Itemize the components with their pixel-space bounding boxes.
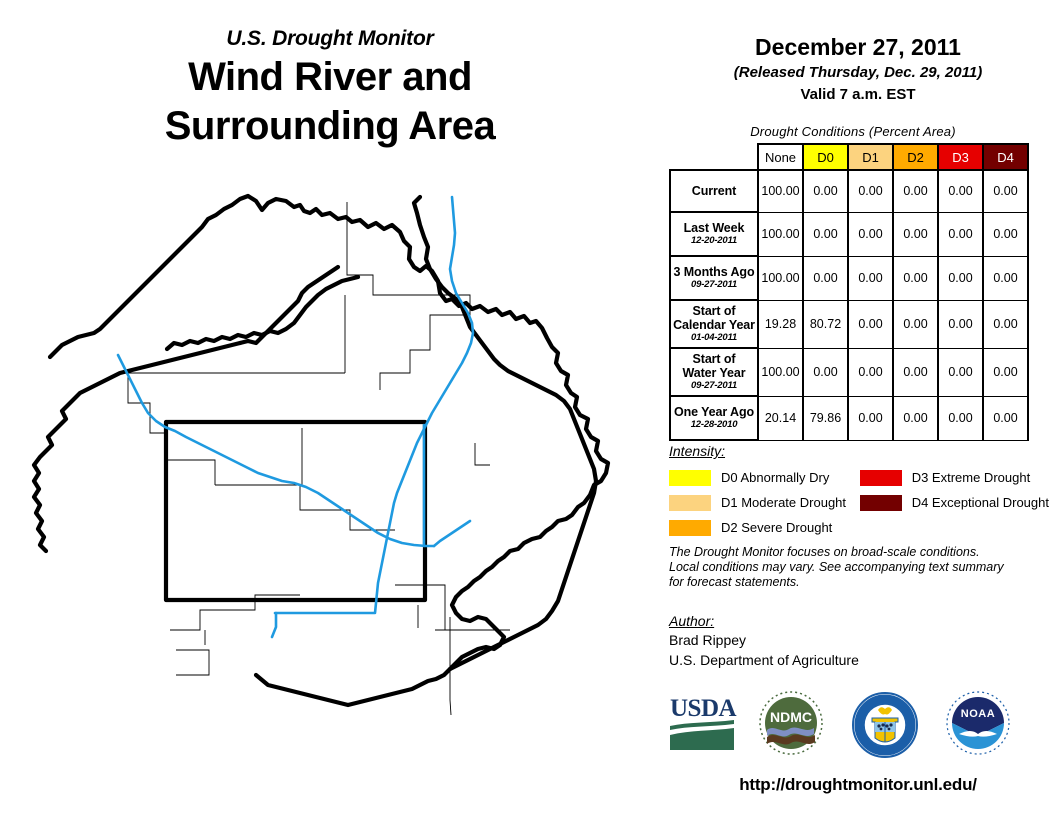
cell-current-d1: 0.00	[848, 170, 893, 212]
cell-water-year-none: 100.00	[758, 348, 803, 396]
cell-last-week-d2: 0.00	[893, 212, 938, 256]
organization-title: U.S. Drought Monitor	[0, 26, 660, 52]
cell-current-d3: 0.00	[938, 170, 983, 212]
intensity-legend: Intensity: D0 Abnormally Dry D1 Moderate…	[669, 443, 1049, 540]
row-label-title-line1: Start of	[673, 304, 755, 318]
disclaimer-line-3: for forecast statements.	[669, 575, 1039, 590]
noaa-logo: NOAA	[945, 690, 1011, 761]
legend-swatch-d2	[669, 520, 711, 536]
row-label-start-of-water-year: Start of Water Year 09-27-2011	[670, 348, 758, 396]
disclaimer-line-2: Local conditions may vary. See accompany…	[669, 560, 1039, 575]
cell-three-months-d2: 0.00	[893, 256, 938, 300]
table-row: Start of Calendar Year 01-04-2011 19.28 …	[670, 300, 1028, 348]
usda-logo: USDA	[668, 690, 738, 757]
author-affiliation: U.S. Department of Agriculture	[669, 651, 1039, 669]
cell-calendar-year-d1: 0.00	[848, 300, 893, 348]
row-label-date: 09-27-2011	[673, 380, 755, 392]
column-header-d3: D3	[938, 144, 983, 170]
legend-swatch-d0	[669, 470, 711, 486]
cell-water-year-d2: 0.00	[893, 348, 938, 396]
legend-column-right: D3 Extreme Drought D4 Exceptional Drough…	[860, 465, 1049, 540]
intensity-heading: Intensity:	[669, 443, 1049, 459]
row-label-date: 09-27-2011	[673, 279, 755, 291]
cell-calendar-year-d0: 80.72	[803, 300, 848, 348]
cell-three-months-d0: 0.00	[803, 256, 848, 300]
legend-label-d0: D0 Abnormally Dry	[721, 470, 829, 485]
cell-one-year-ago-d1: 0.00	[848, 396, 893, 440]
logo-row: USDA NDMC	[660, 690, 1056, 772]
legend-item-d1: D1 Moderate Drought	[669, 490, 860, 515]
valid-time: Valid 7 a.m. EST	[660, 85, 1056, 105]
date-block: December 27, 2011 (Released Thursday, De…	[660, 34, 1056, 105]
column-header-d4: D4	[983, 144, 1028, 170]
row-label-title-line2: Calendar Year	[673, 318, 755, 332]
row-label-date: 12-20-2011	[673, 235, 755, 247]
cell-three-months-d3: 0.00	[938, 256, 983, 300]
svg-text:NDMC: NDMC	[770, 709, 812, 725]
map-panel: U.S. Drought Monitor Wind River and Surr…	[0, 0, 660, 816]
cell-water-year-d3: 0.00	[938, 348, 983, 396]
cell-water-year-d0: 0.00	[803, 348, 848, 396]
department-of-commerce-seal	[850, 690, 920, 765]
cell-calendar-year-none: 19.28	[758, 300, 803, 348]
table-row: One Year Ago 12-28-2010 20.14 79.86 0.00…	[670, 396, 1028, 440]
table-corner-cell	[670, 144, 758, 170]
cell-last-week-d0: 0.00	[803, 212, 848, 256]
cell-one-year-ago-d3: 0.00	[938, 396, 983, 440]
cell-three-months-d1: 0.00	[848, 256, 893, 300]
cell-last-week-d1: 0.00	[848, 212, 893, 256]
row-label-title: One Year Ago	[673, 405, 755, 419]
legend-label-d4: D4 Exceptional Drought	[912, 495, 1049, 510]
disclaimer-line-1: The Drought Monitor focuses on broad-sca…	[669, 545, 1039, 560]
cell-one-year-ago-none: 20.14	[758, 396, 803, 440]
title-block: U.S. Drought Monitor Wind River and Surr…	[0, 26, 660, 151]
legend-column-left: D0 Abnormally Dry D1 Moderate Drought D2…	[669, 465, 860, 540]
svg-text:NOAA: NOAA	[961, 708, 995, 720]
cell-water-year-d4: 0.00	[983, 348, 1028, 396]
basin-boundaries	[34, 196, 628, 705]
table-row: Current 100.00 0.00 0.00 0.00 0.00 0.00	[670, 170, 1028, 212]
column-header-d0: D0	[803, 144, 848, 170]
table-caption: Drought Conditions (Percent Area)	[660, 124, 1046, 139]
table-header-row: None D0 D1 D2 D3 D4	[670, 144, 1028, 170]
table-row: Start of Water Year 09-27-2011 100.00 0.…	[670, 348, 1028, 396]
cell-calendar-year-d4: 0.00	[983, 300, 1028, 348]
legend-item-d2: D2 Severe Drought	[669, 515, 860, 540]
legend-label-d3: D3 Extreme Drought	[912, 470, 1031, 485]
cell-three-months-none: 100.00	[758, 256, 803, 300]
author-name: Brad Rippey	[669, 631, 1039, 649]
row-label-date: 12-28-2010	[673, 419, 755, 431]
drought-conditions-table: None D0 D1 D2 D3 D4 Current 100.00 0.00 …	[669, 143, 1029, 441]
legend-item-d3: D3 Extreme Drought	[860, 465, 1049, 490]
disclaimer-text: The Drought Monitor focuses on broad-sca…	[669, 545, 1039, 590]
cell-water-year-d1: 0.00	[848, 348, 893, 396]
cell-one-year-ago-d4: 0.00	[983, 396, 1028, 440]
cell-one-year-ago-d0: 79.86	[803, 396, 848, 440]
study-area-outline	[414, 197, 596, 669]
legend-swatch-d3	[860, 470, 902, 486]
row-label-title: 3 Months Ago	[673, 265, 755, 279]
rivers	[118, 197, 473, 637]
legend-swatch-d4	[860, 495, 902, 511]
row-label-one-year-ago: One Year Ago 12-28-2010	[670, 396, 758, 440]
column-header-none: None	[758, 144, 803, 170]
reservation-boundary	[166, 422, 425, 600]
row-label-date: 01-04-2011	[673, 332, 755, 344]
cell-current-d4: 0.00	[983, 170, 1028, 212]
cell-current-none: 100.00	[758, 170, 803, 212]
row-label-title: Last Week	[673, 221, 755, 235]
cell-calendar-year-d3: 0.00	[938, 300, 983, 348]
cell-last-week-d3: 0.00	[938, 212, 983, 256]
legend-label-d1: D1 Moderate Drought	[721, 495, 846, 510]
row-label-last-week: Last Week 12-20-2011	[670, 212, 758, 256]
page-title-line2: Surrounding Area	[0, 102, 660, 151]
column-header-d1: D1	[848, 144, 893, 170]
drought-map[interactable]	[0, 175, 660, 715]
row-label-title-line2: Water Year	[673, 366, 755, 380]
svg-text:USDA: USDA	[670, 695, 737, 722]
column-header-d2: D2	[893, 144, 938, 170]
table-row: Last Week 12-20-2011 100.00 0.00 0.00 0.…	[670, 212, 1028, 256]
cell-last-week-none: 100.00	[758, 212, 803, 256]
table-row: 3 Months Ago 09-27-2011 100.00 0.00 0.00…	[670, 256, 1028, 300]
ndmc-logo: NDMC	[758, 690, 824, 761]
cell-three-months-d4: 0.00	[983, 256, 1028, 300]
row-label-start-of-calendar-year: Start of Calendar Year 01-04-2011	[670, 300, 758, 348]
legend-swatch-d1	[669, 495, 711, 511]
county-lines	[128, 202, 523, 715]
info-panel: December 27, 2011 (Released Thursday, De…	[660, 0, 1056, 816]
website-url[interactable]: http://droughtmonitor.unl.edu/	[660, 775, 1056, 795]
author-heading: Author:	[669, 613, 1039, 629]
legend-item-d4: D4 Exceptional Drought	[860, 490, 1049, 515]
page-title: Wind River and Surrounding Area	[0, 53, 660, 151]
cell-current-d0: 0.00	[803, 170, 848, 212]
cell-one-year-ago-d2: 0.00	[893, 396, 938, 440]
page-title-line1: Wind River and	[0, 53, 660, 102]
legend-item-d0: D0 Abnormally Dry	[669, 465, 860, 490]
report-date: December 27, 2011	[660, 34, 1056, 61]
author-block: Author: Brad Rippey U.S. Department of A…	[669, 613, 1039, 669]
legend-label-d2: D2 Severe Drought	[721, 520, 832, 535]
row-label-title-line1: Start of	[673, 352, 755, 366]
cell-current-d2: 0.00	[893, 170, 938, 212]
cell-last-week-d4: 0.00	[983, 212, 1028, 256]
row-label-current: Current	[670, 170, 758, 212]
row-label-three-months-ago: 3 Months Ago 09-27-2011	[670, 256, 758, 300]
row-label-title: Current	[673, 184, 755, 198]
cell-calendar-year-d2: 0.00	[893, 300, 938, 348]
release-date: (Released Thursday, Dec. 29, 2011)	[660, 63, 1056, 83]
